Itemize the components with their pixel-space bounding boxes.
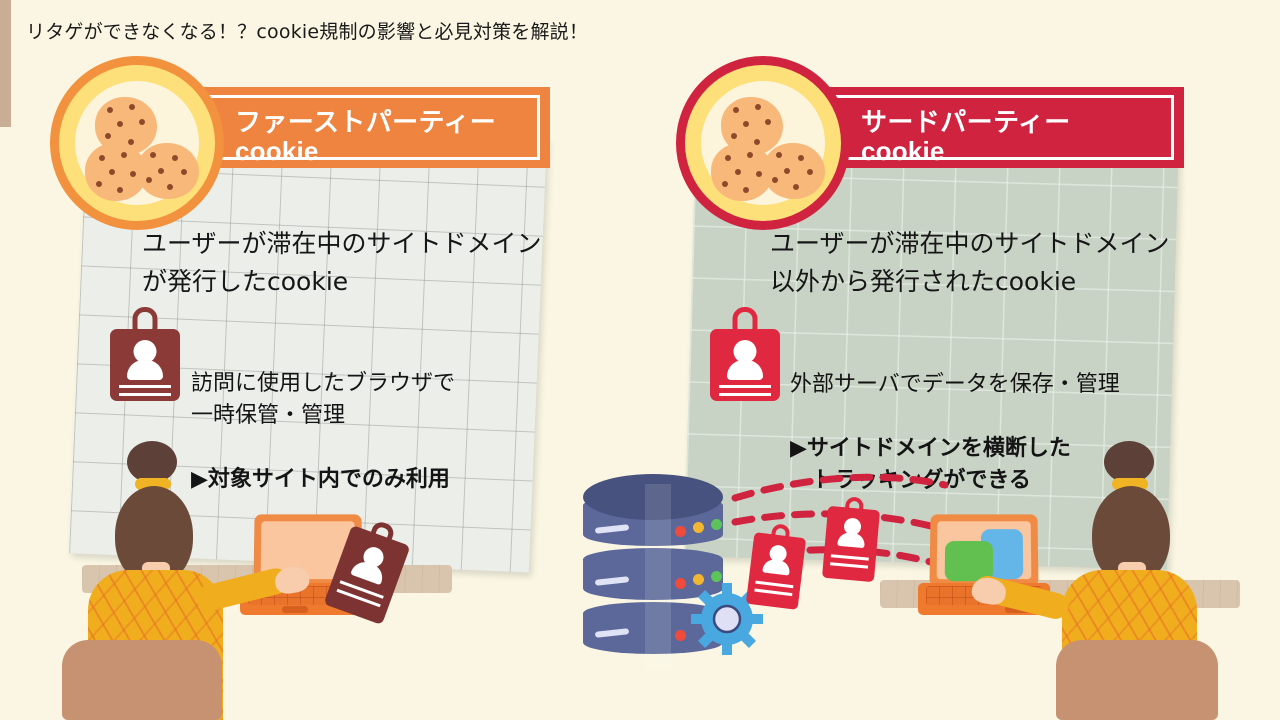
right-desk-scene [0, 0, 11, 112]
ribbon-inner-border: ファーストパーティー cookie [194, 95, 540, 160]
chair [1056, 640, 1218, 720]
badge-card [710, 329, 780, 401]
cookie-icon [763, 143, 825, 199]
page-title: リタゲができなくなる！？cookie規制の影響と必見対策を解説！ [26, 17, 588, 44]
badge-text-line [830, 562, 868, 568]
badge-person-body [727, 360, 763, 380]
tracking-id-badge-icon [746, 532, 806, 610]
third-party-header-line1: サードパーティー [861, 109, 1157, 137]
laptop-trackpad [282, 606, 308, 613]
badge-text-line [755, 581, 793, 589]
hair-bun [1104, 441, 1154, 483]
third-party-header-ribbon: サードパーティー cookie [808, 87, 1184, 168]
third-party-header-line2: cookie [861, 137, 1157, 166]
badge-text-line [719, 393, 771, 396]
cookie-plate-icon [676, 56, 850, 230]
badge-text-line [719, 385, 771, 388]
id-badge-icon [110, 307, 180, 401]
server-led-yellow [693, 522, 704, 533]
chair [62, 640, 222, 720]
third-party-note-bold: ▶サイトドメインを横断した トラッキングができる [790, 436, 1071, 493]
third-party-note: 外部サーバでデータを保存・管理 ▶サイトドメインを横断した トラッキングができる [790, 337, 1120, 497]
first-party-note: 訪問に使用したブラウザで 一時保管・管理 ▶対象サイト内でのみ利用 [191, 336, 455, 496]
server-highlight [645, 484, 671, 669]
badge-text-line [119, 385, 171, 388]
server-led-red [675, 578, 686, 589]
cookie-plate-icon [50, 56, 224, 230]
badge-person-body [762, 558, 791, 575]
server-led-green [711, 571, 722, 582]
id-badge-icon [710, 307, 780, 401]
cookie-plate [701, 81, 826, 206]
first-party-header-line2: cookie [235, 137, 523, 166]
third-party-description: ユーザーが滞在中のサイトドメイン 以外から発行されたcookie [770, 225, 1170, 301]
badge-text-line [831, 554, 869, 560]
first-party-note-plain: 訪問に使用したブラウザで 一時保管・管理 [191, 371, 455, 428]
badge-person-body [837, 532, 865, 548]
desk-leg [0, 0, 11, 112]
badge-card [822, 506, 880, 582]
badge-person-body [127, 360, 163, 380]
first-party-header-line1: ファーストパーティー [235, 109, 523, 137]
server-led-red [675, 630, 686, 641]
cookie-plate [75, 81, 200, 206]
badge-card [746, 532, 806, 610]
badge-text-line [754, 589, 792, 597]
first-party-note-bold: ▶対象サイト内でのみ利用 [191, 467, 450, 492]
tracking-id-badge-icon [822, 506, 880, 582]
infographic-canvas: リタゲができなくなる！？cookie規制の影響と必見対策を解説！ ユーザーが滞在… [0, 0, 1280, 720]
server-led-red [675, 526, 686, 537]
third-party-note-plain: 外部サーバでデータを保存・管理 [790, 372, 1120, 397]
laptop-display [937, 521, 1032, 579]
badge-card [110, 329, 180, 401]
first-party-header-ribbon: ファーストパーティー cookie [182, 87, 550, 168]
badge-text-line [119, 393, 171, 396]
cookie-icon [137, 143, 199, 199]
hair-bun [127, 441, 177, 483]
first-party-description: ユーザーが滞在中のサイトドメイン が発行したcookie [142, 225, 542, 301]
server-led-green [711, 519, 722, 530]
ribbon-inner-border: サードパーティー cookie [820, 95, 1174, 160]
